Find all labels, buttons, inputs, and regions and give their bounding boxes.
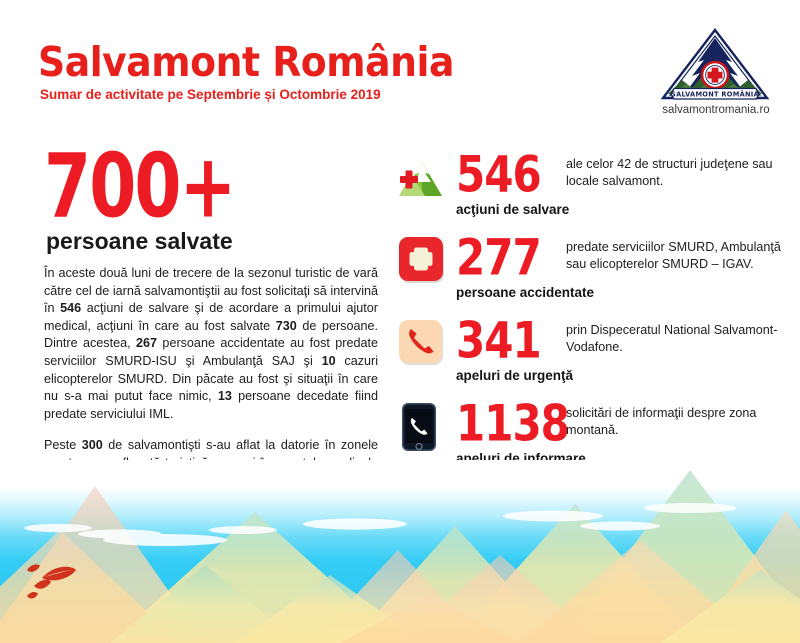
- stat-number: 1138: [456, 397, 569, 451]
- headline-statistic-label: persoane salvate: [46, 228, 233, 255]
- inline-statistic: 730: [276, 319, 297, 333]
- stat-label: acţiuni de salvare: [456, 202, 569, 217]
- stat-label: apeluri de urgenţă: [456, 368, 573, 383]
- stat-label: persoane accidentate: [456, 285, 594, 300]
- stat-description: solicitări de informaţii despre zona mon…: [566, 405, 796, 439]
- stat-description: ale celor 42 de structuri judeţene sau l…: [566, 156, 796, 190]
- stat-row: 546 acţiuni de salvare ale celor 42 de s…: [398, 148, 798, 231]
- mountain-landscape-footer: [0, 460, 800, 643]
- page-subtitle: Sumar de activitate pe Septembrie și Oct…: [40, 87, 381, 102]
- stat-description: predate serviciilor SMURD, Ambulanţă sau…: [566, 239, 796, 273]
- inline-statistic: 267: [136, 336, 157, 350]
- inline-statistic: 300: [82, 438, 103, 452]
- stat-number: 546: [456, 148, 541, 202]
- stat-description: prin Dispeceratul National Salvamont-Vod…: [566, 322, 796, 356]
- medical-cross-icon: [398, 235, 450, 287]
- smartphone-icon: [398, 401, 450, 453]
- stat-number: 341: [456, 314, 541, 368]
- mountain-rescue-icon: [398, 152, 450, 204]
- summary-paragraph-first: În aceste două luni de trecere de la sez…: [44, 265, 378, 423]
- mountain-peaks: [0, 460, 800, 643]
- logo-banner-text: SALVAMONT ROMÂNIA: [671, 89, 760, 98]
- headline-statistic: 700+: [44, 142, 234, 230]
- stat-number: 277: [456, 231, 541, 285]
- salvamont-logo: SALVAMONT ROMÂNIA: [660, 28, 770, 100]
- statistics-list: 546 acţiuni de salvare ale celor 42 de s…: [398, 148, 798, 480]
- phone-handset-icon: [398, 318, 450, 370]
- inline-statistic: 10: [322, 354, 336, 368]
- stat-row: 277 persoane accidentate predate servici…: [398, 231, 798, 314]
- infographic-poster: Salvamont România Sumar de activitate pe…: [0, 0, 800, 643]
- inline-statistic: 13: [218, 389, 232, 403]
- inline-statistic: 546: [60, 301, 81, 315]
- cloud-shapes: [24, 503, 736, 546]
- page-title: Salvamont România: [38, 38, 454, 86]
- stat-row: 341 apeluri de urgenţă prin Dispeceratul…: [398, 314, 798, 397]
- logo-website-url: salvamontromania.ro: [660, 104, 772, 116]
